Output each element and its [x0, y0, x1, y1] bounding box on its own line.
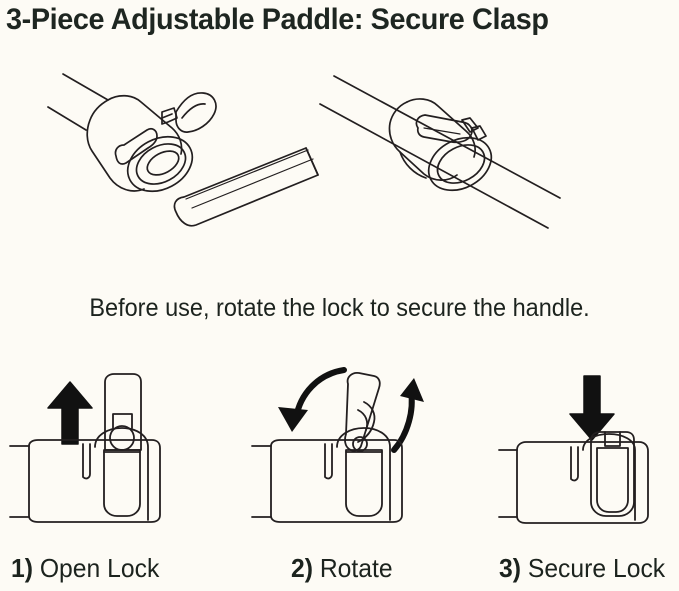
- step-figure-open-lock: [0, 352, 230, 542]
- arrow-up-icon: [48, 382, 92, 444]
- rotate-arrow-right-icon: [394, 378, 424, 450]
- step-text-3: Secure Lock: [528, 553, 665, 583]
- step-figure-secure-lock: [487, 352, 679, 542]
- step-number-1: 1): [11, 553, 33, 583]
- steps-row: [0, 352, 679, 542]
- step-text-2: Rotate: [320, 553, 393, 583]
- rotate-arrow-left-icon: [278, 370, 344, 432]
- step-label-secure-lock: 3) Secure Lock: [499, 552, 665, 584]
- illustration-row: [0, 52, 679, 284]
- illustrations-svg: [0, 52, 679, 284]
- step-number-2: 2): [291, 553, 313, 583]
- arrow-down-icon: [570, 376, 614, 440]
- step-2-svg: [248, 352, 483, 542]
- step-number-3: 3): [499, 553, 521, 583]
- step-figure-rotate: [248, 352, 483, 542]
- step-text-1: Open Lock: [40, 553, 159, 583]
- step-label-rotate: 2) Rotate: [291, 552, 393, 584]
- illustration-paddle-locked: [320, 76, 560, 228]
- step-1-svg: [0, 352, 230, 542]
- instruction-caption: Before use, rotate the lock to secure th…: [20, 292, 658, 324]
- page-title: 3-Piece Adjustable Paddle: Secure Clasp: [6, 2, 647, 38]
- illustration-paddle-unlocked: [48, 74, 318, 226]
- step-3-svg: [487, 352, 679, 542]
- instruction-diagram-page: 3-Piece Adjustable Paddle: Secure Clasp: [0, 0, 679, 591]
- step-label-open-lock: 1) Open Lock: [11, 552, 159, 584]
